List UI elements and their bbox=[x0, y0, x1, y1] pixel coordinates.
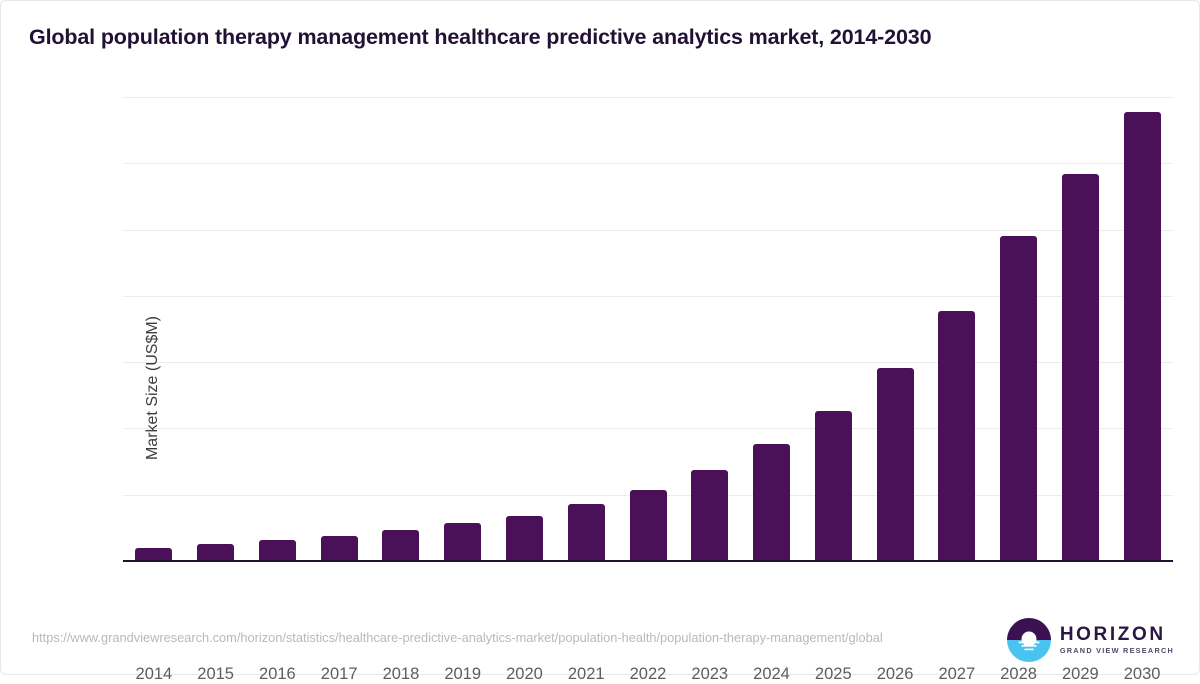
y-axis-title: Market Size (US$M) bbox=[144, 148, 162, 628]
bar-2026[interactable] bbox=[877, 368, 914, 561]
bar-2028[interactable] bbox=[1000, 236, 1037, 561]
logo-tagline: GRAND VIEW RESEARCH bbox=[1060, 647, 1174, 654]
logo-name: HORIZON bbox=[1060, 625, 1174, 644]
sunrise-circle-icon bbox=[1007, 618, 1051, 662]
gridline bbox=[123, 97, 1173, 98]
bar-2029[interactable] bbox=[1062, 174, 1099, 561]
bar-2019[interactable] bbox=[444, 523, 481, 561]
source-url[interactable]: https://www.grandviewresearch.com/horizo… bbox=[32, 629, 922, 647]
bar-2025[interactable] bbox=[815, 411, 852, 561]
bar-2030[interactable] bbox=[1124, 112, 1161, 561]
horizon-logo[interactable]: HORIZON GRAND VIEW RESEARCH bbox=[1007, 618, 1174, 662]
plot-area: 0500100015002000250030003500 20142015201… bbox=[123, 97, 1173, 561]
gridline bbox=[123, 230, 1173, 231]
bar-2020[interactable] bbox=[506, 516, 543, 561]
gridline bbox=[123, 163, 1173, 164]
bar-2021[interactable] bbox=[568, 504, 605, 561]
bar-2027[interactable] bbox=[938, 311, 975, 561]
bar-2022[interactable] bbox=[630, 490, 667, 561]
bar-2018[interactable] bbox=[382, 530, 419, 561]
x-axis-line bbox=[123, 560, 1173, 562]
bar-2024[interactable] bbox=[753, 444, 790, 561]
bar-2017[interactable] bbox=[321, 536, 358, 561]
bar-2023[interactable] bbox=[691, 470, 728, 561]
bar-2016[interactable] bbox=[259, 540, 296, 561]
horizon-logo-wordmark: HORIZON GRAND VIEW RESEARCH bbox=[1060, 625, 1174, 654]
horizon-logo-icon bbox=[1007, 618, 1051, 662]
bar-2015[interactable] bbox=[197, 544, 234, 561]
chart-figure: Global population therapy management hea… bbox=[0, 0, 1200, 675]
page-title: Global population therapy management hea… bbox=[29, 25, 931, 50]
